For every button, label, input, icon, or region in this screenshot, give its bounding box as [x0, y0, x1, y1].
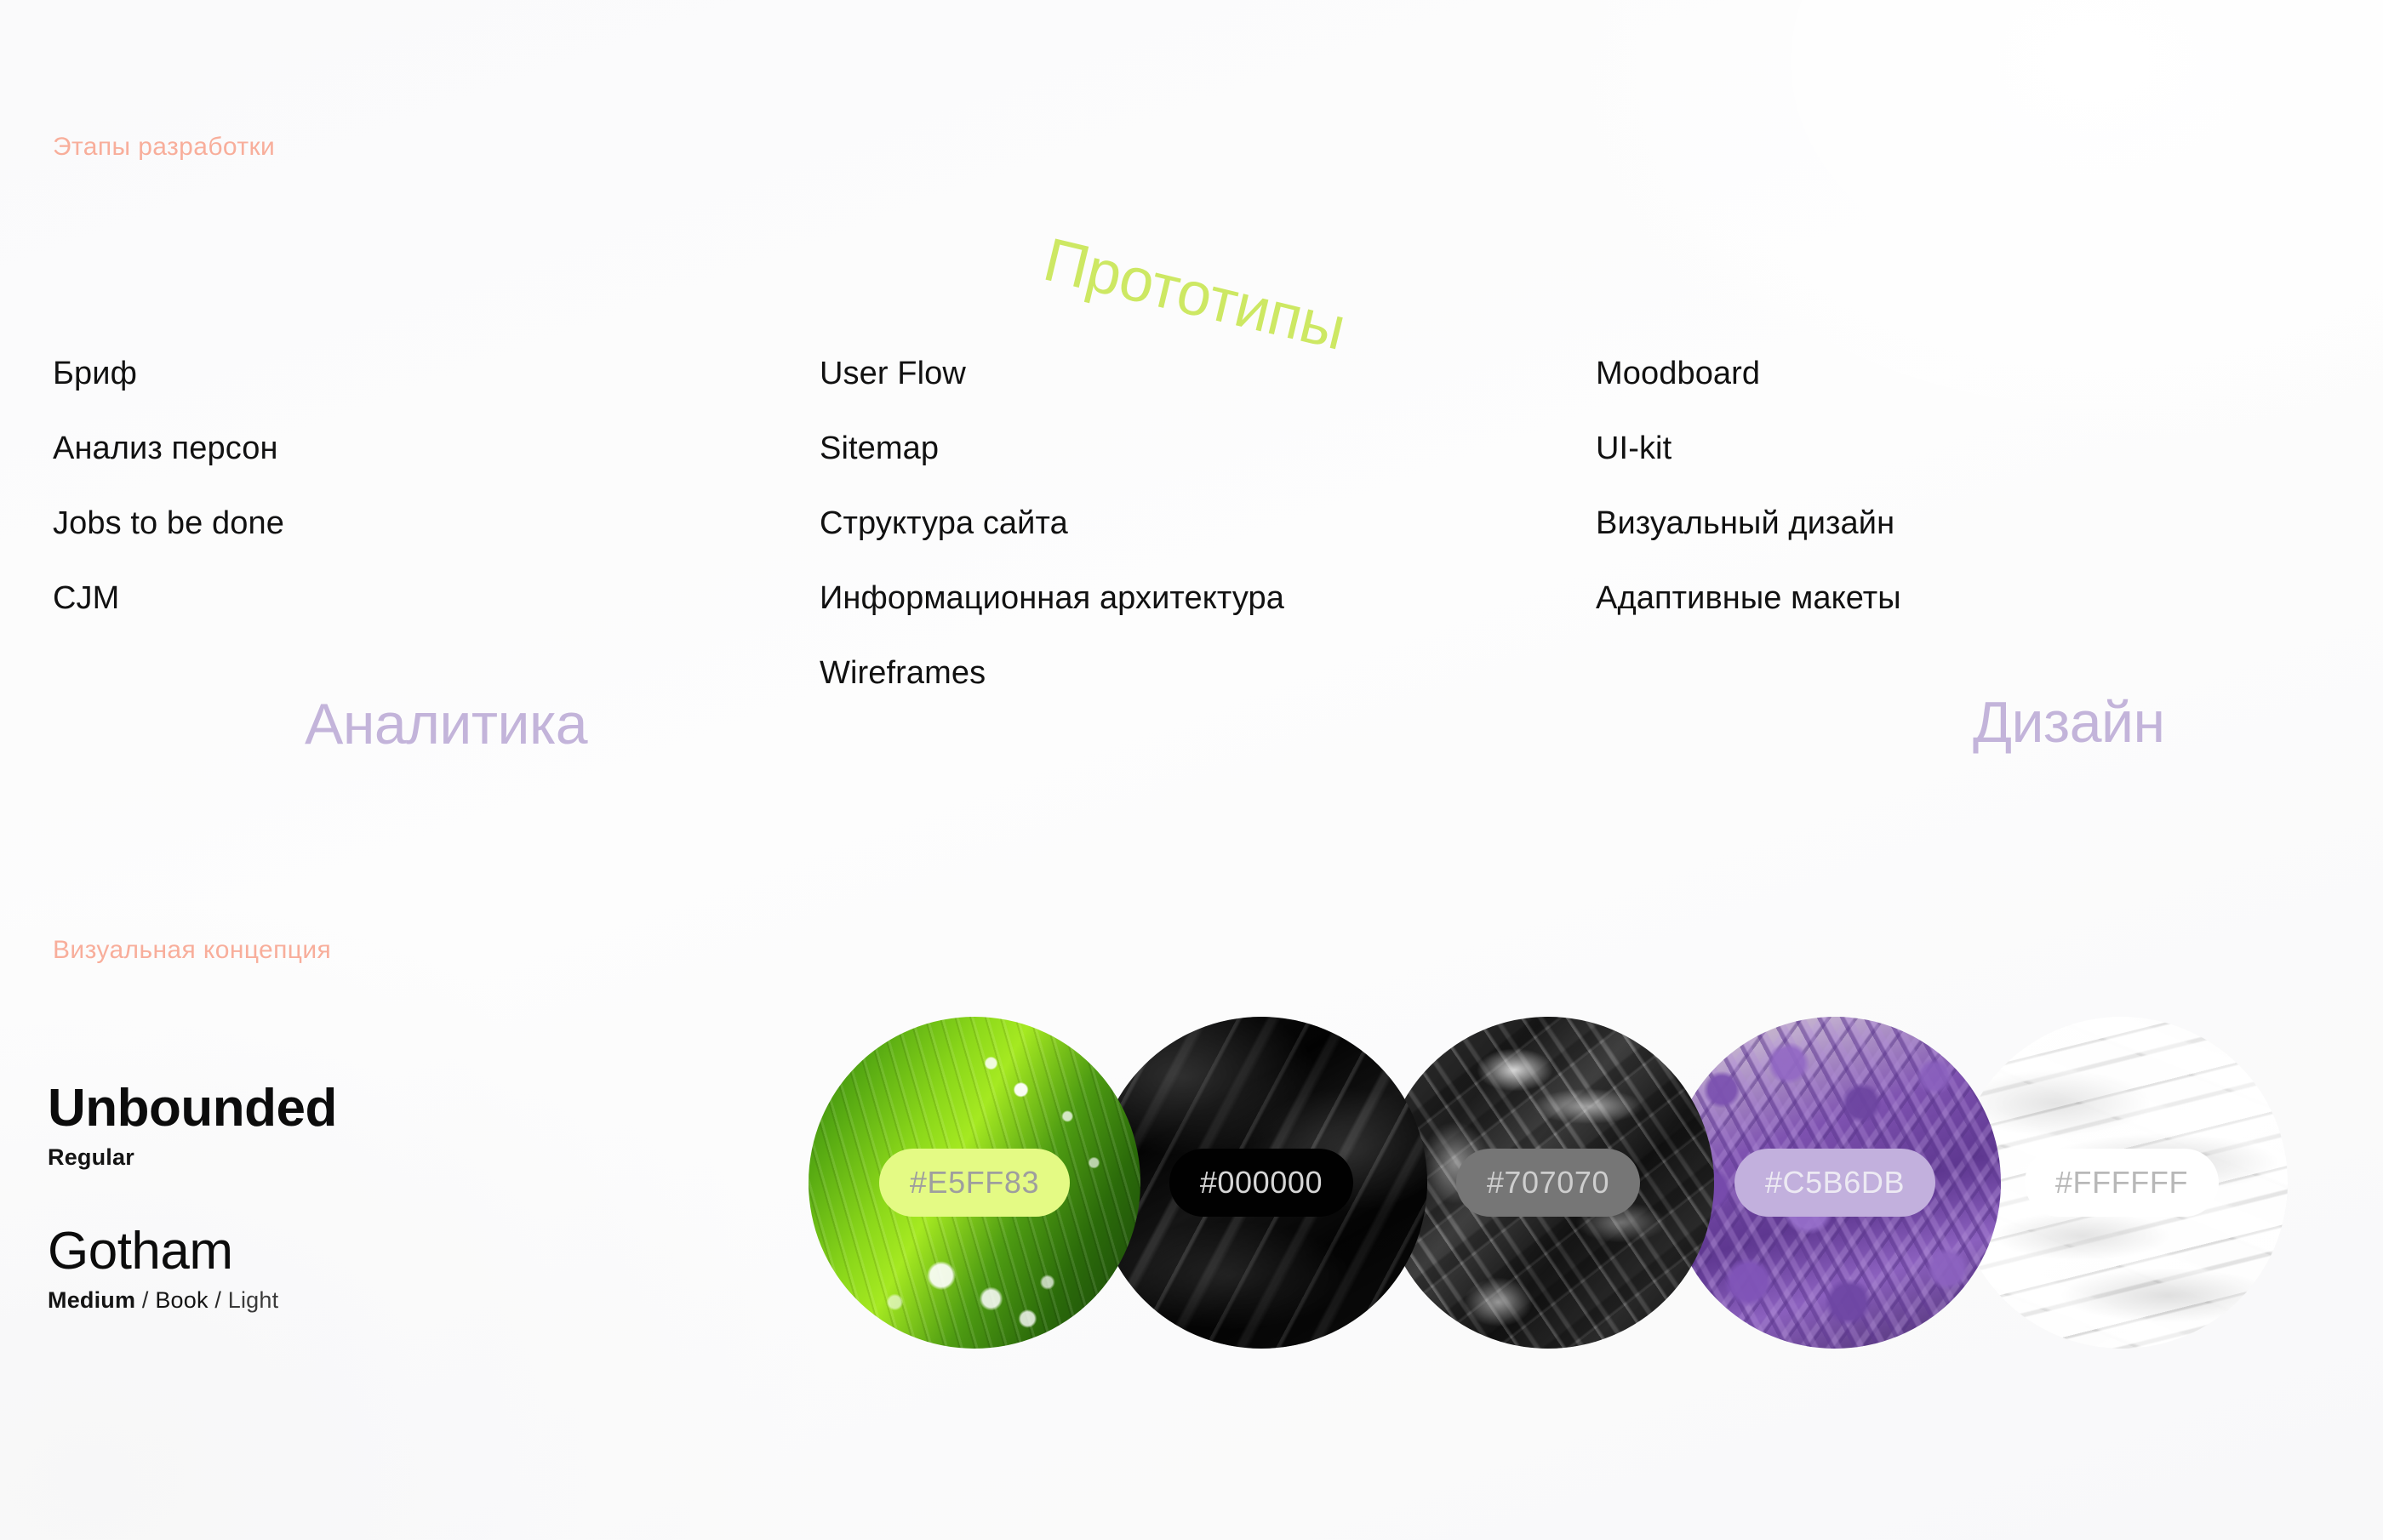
- stage-list-analytics: Бриф Анализ персон Jobs to be done CJM: [53, 357, 284, 614]
- section-eyebrow-stages: Этапы разработки: [53, 133, 275, 162]
- font-weight-label: Regular: [48, 1144, 134, 1170]
- list-item: Визуальный дизайн: [1596, 507, 1901, 539]
- color-swatch-grey: #707070: [1382, 1017, 1714, 1349]
- list-item: User Flow: [820, 357, 1284, 390]
- color-hex-pill: #FFFFFF: [2025, 1149, 2219, 1217]
- list-item: Sitemap: [820, 432, 1284, 465]
- font-weight-label: Medium: [48, 1287, 135, 1313]
- list-item: Структура сайта: [820, 507, 1284, 539]
- color-hex-pill: #C5B6DB: [1734, 1149, 1935, 1217]
- font-weight-separator: /: [214, 1287, 221, 1313]
- list-item: Бриф: [53, 357, 284, 390]
- color-swatch-black: #000000: [1095, 1017, 1427, 1349]
- font-family-name: Gotham: [48, 1223, 337, 1279]
- typography-specimen: Unbounded Regular Gotham Medium / Book /…: [48, 1081, 337, 1314]
- color-swatch-green: #E5FF83: [809, 1017, 1140, 1349]
- list-item: UI-kit: [1596, 432, 1901, 465]
- font-weights-list: Regular: [48, 1144, 337, 1171]
- color-swatch-white: #FFFFFF: [1956, 1017, 2288, 1349]
- font-weight-label: Light: [228, 1287, 279, 1313]
- section-heading-design: Дизайн: [1973, 689, 2165, 756]
- list-item: Анализ персон: [53, 432, 284, 465]
- list-item: Jobs to be done: [53, 507, 284, 539]
- stage-list-prototypes: User Flow Sitemap Структура сайта Информ…: [820, 357, 1284, 689]
- slide-canvas: Этапы разработки Визуальная концепция Ан…: [0, 0, 2383, 1540]
- font-weights-list: Medium / Book / Light: [48, 1287, 337, 1314]
- list-item: Адаптивные макеты: [1596, 582, 1901, 614]
- stage-list-design: Moodboard UI-kit Визуальный дизайн Адапт…: [1596, 357, 1901, 614]
- color-hex-pill: #E5FF83: [879, 1149, 1070, 1217]
- list-item: Moodboard: [1596, 357, 1901, 390]
- font-weight-separator: /: [142, 1287, 149, 1313]
- color-swatch-purple: #C5B6DB: [1669, 1017, 2001, 1349]
- font-spec-unbounded: Unbounded Regular: [48, 1081, 337, 1171]
- font-spec-gotham: Gotham Medium / Book / Light: [48, 1223, 337, 1314]
- section-heading-analytics: Аналитика: [305, 691, 587, 757]
- font-weight-label: Book: [155, 1287, 208, 1313]
- list-item: Информационная архитектура: [820, 582, 1284, 614]
- color-palette-swatches: #E5FF83 #000000 #707070 #C5B6DB #FFFFFF: [809, 1017, 2340, 1357]
- list-item: Wireframes: [820, 657, 1284, 689]
- color-hex-pill: #707070: [1456, 1149, 1640, 1217]
- font-family-name: Unbounded: [48, 1081, 337, 1136]
- color-hex-pill: #000000: [1169, 1149, 1353, 1217]
- section-heading-prototypes: Прототипы: [1037, 225, 1352, 364]
- list-item: CJM: [53, 582, 284, 614]
- section-eyebrow-visual-concept: Визуальная концепция: [53, 936, 331, 965]
